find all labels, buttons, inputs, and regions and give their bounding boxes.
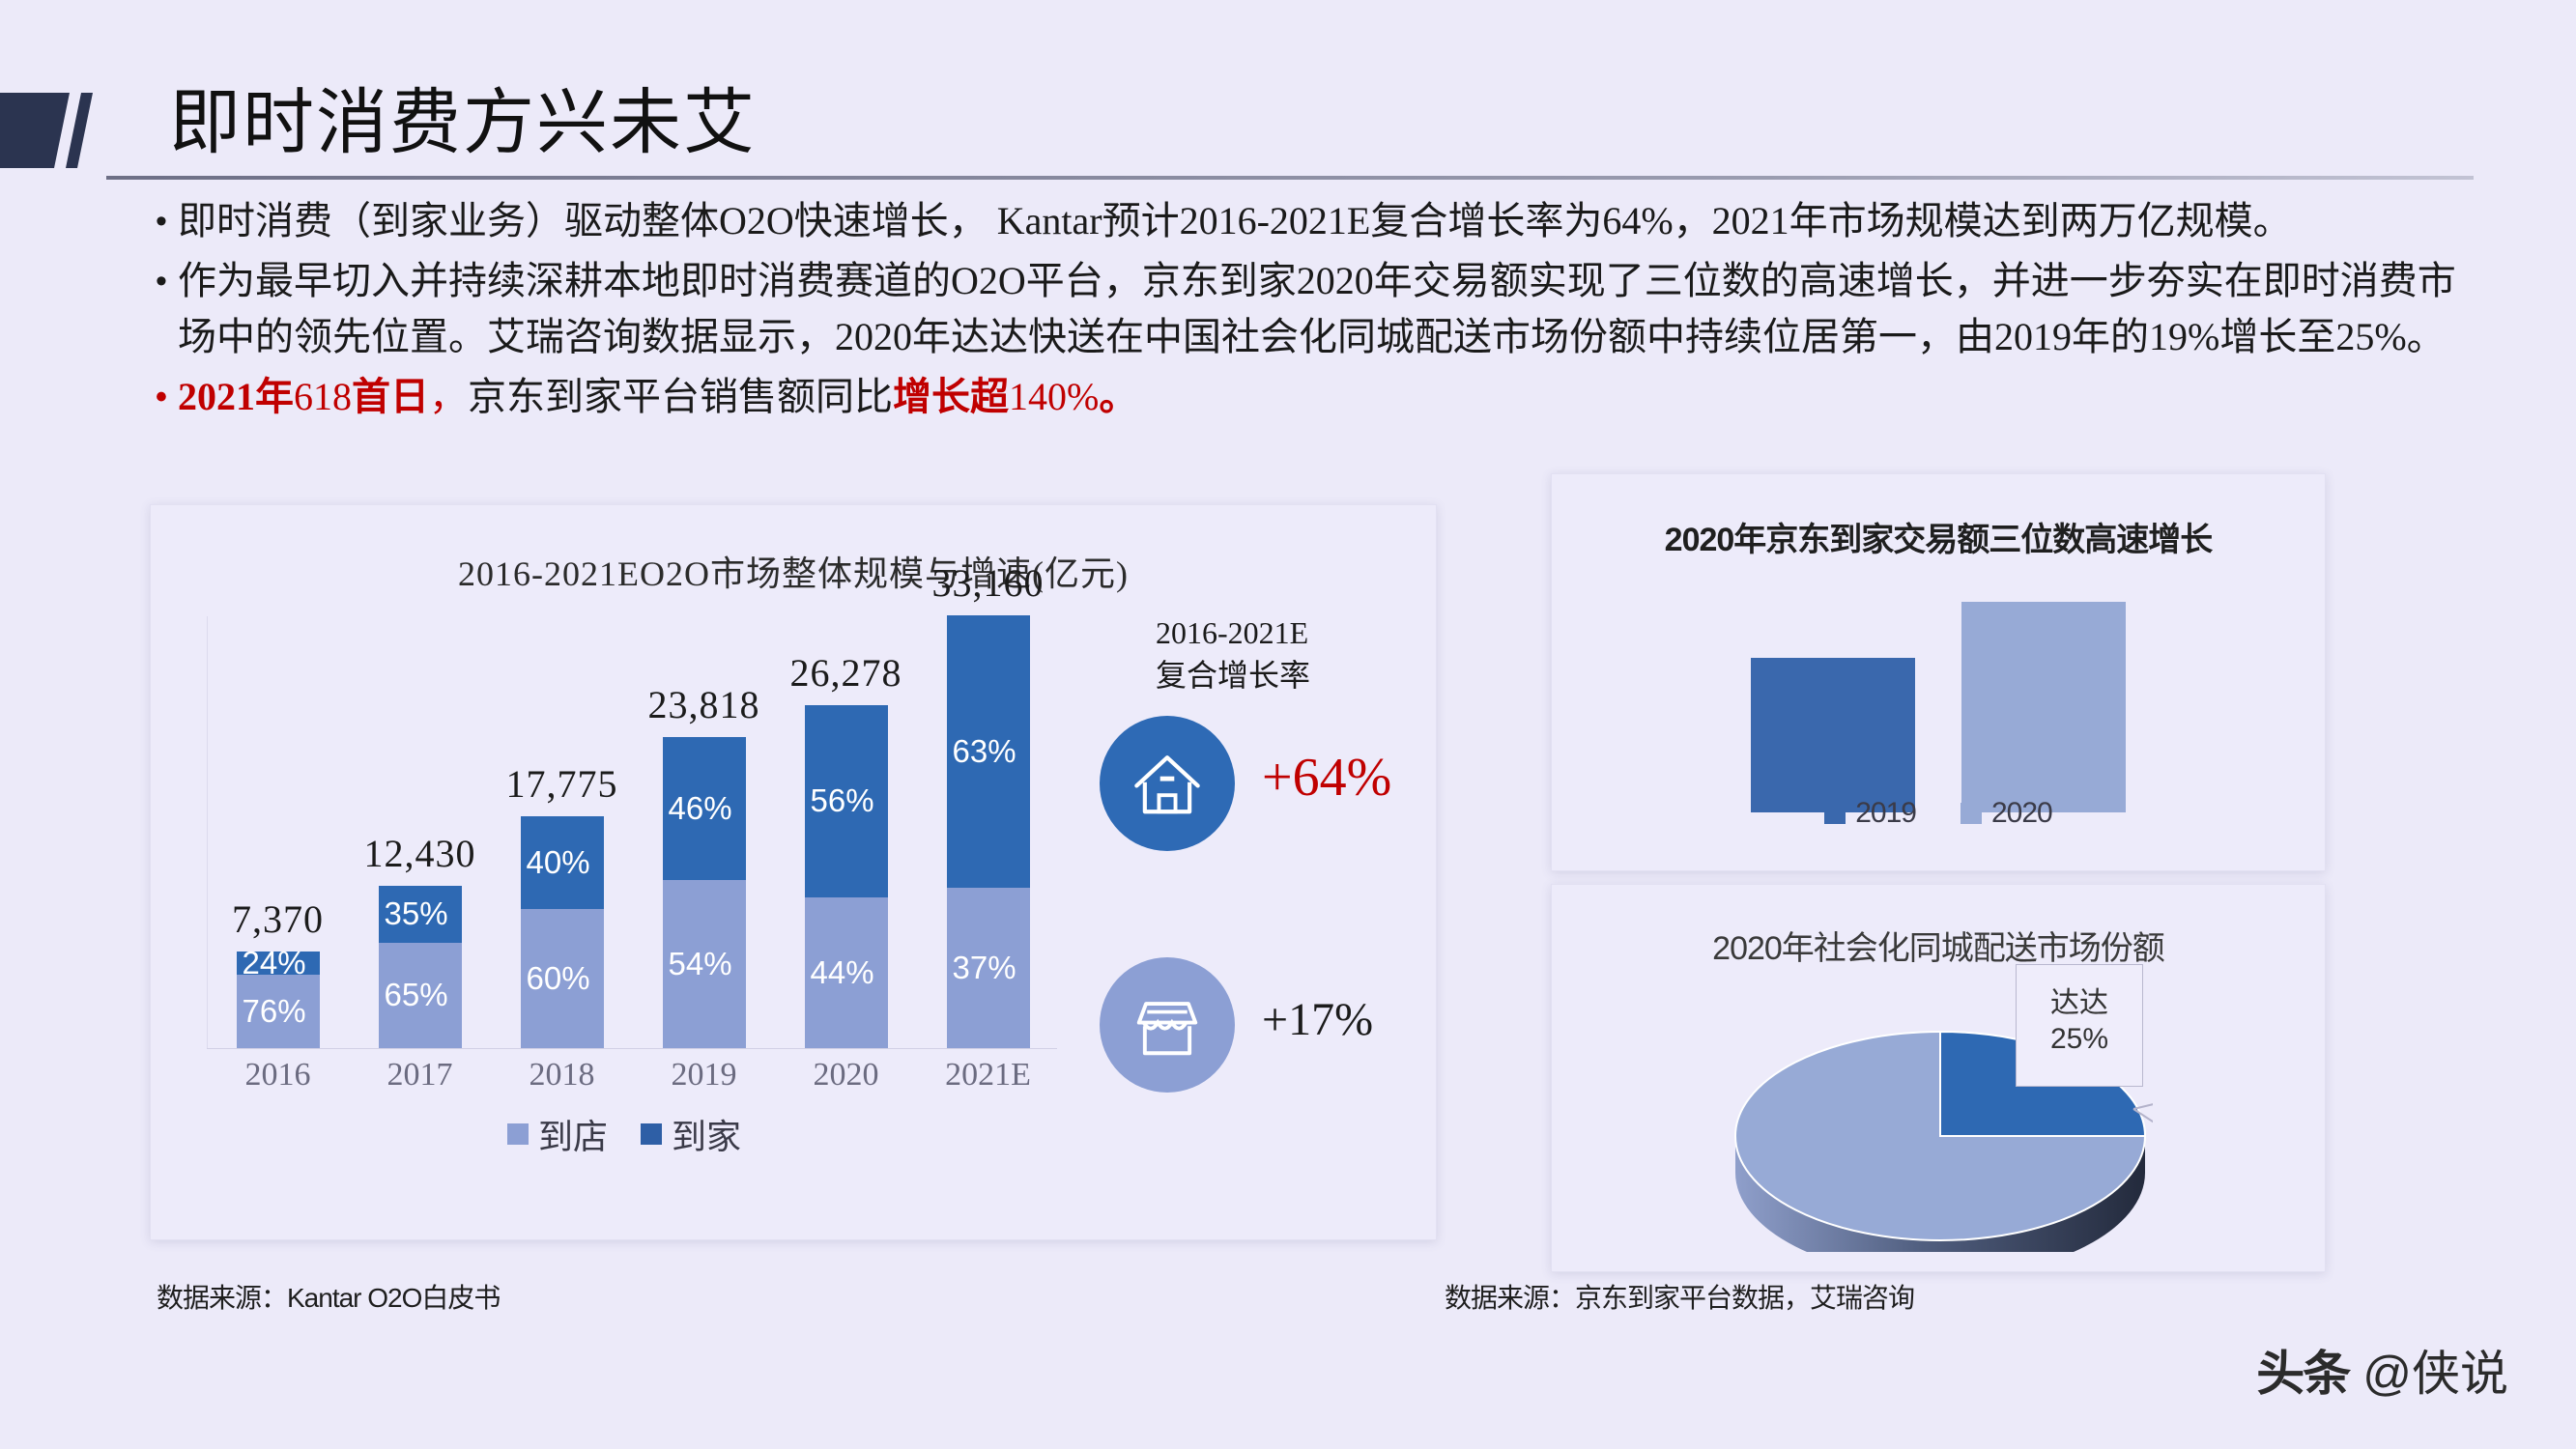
jd-gmv-card: 2020年京东到家交易额三位数高速增长 2019 2020 xyxy=(1551,473,2326,871)
main-chart-card: 2016-2021EO2O市场整体规模与增速(亿元) 7,370 24% 76%… xyxy=(150,504,1437,1240)
bar-total-label: 12,430 xyxy=(364,831,476,876)
bar-columns: 7,370 24% 76% 12,430 35% 65% 17,77 xyxy=(207,623,1059,1048)
bullet-text-3: 2021年618首日，京东到家平台销售额同比增长超140%。 xyxy=(178,369,2464,425)
legend-swatch-home-icon xyxy=(641,1123,662,1145)
home-icon-badge xyxy=(1100,716,1235,851)
x-tick-2017: 2017 xyxy=(349,1057,491,1101)
stacked-bar: 24% 76% xyxy=(237,952,320,1048)
store-icon-badge xyxy=(1100,957,1235,1093)
segment-store: 44% xyxy=(805,897,888,1048)
bullet-list: • 即时消费（到家业务）驱动整体O2O快速增长， Kantar预计2016-20… xyxy=(145,193,2464,429)
segment-home: 56% xyxy=(805,705,888,897)
cagr-home-value: +64% xyxy=(1262,747,1391,809)
house-icon xyxy=(1130,746,1205,821)
legend-label-store: 到店 xyxy=(538,1109,608,1159)
slide: 即时消费方兴未艾 • 即时消费（到家业务）驱动整体O2O快速增长， Kantar… xyxy=(0,0,2576,1449)
market-share-card: 2020年社会化同城配送市场份额 xyxy=(1551,884,2326,1272)
bar-column-2018[interactable]: 17,775 40% 60% xyxy=(491,761,633,1048)
segment-home: 24% xyxy=(237,952,320,975)
legend-item-2020[interactable]: 2020 xyxy=(1961,797,2052,830)
main-chart-legend: 到店 到家 xyxy=(189,1109,1059,1159)
bullet-text-2: 作为最早切入并持续深耕本地即时消费赛道的O2O平台，京东到家2020年交易额实现… xyxy=(178,253,2464,365)
bar-total-label: 26,278 xyxy=(790,650,902,696)
cagr-label: 复合增长率 xyxy=(1156,654,1407,696)
segment-home: 63% xyxy=(947,615,1030,888)
segment-store: 65% xyxy=(379,943,462,1048)
legend-swatch-2019-icon xyxy=(1824,803,1846,824)
pie-callout-value: 25% xyxy=(2017,1023,2142,1056)
bar-column-2020[interactable]: 26,278 56% 44% xyxy=(775,650,917,1048)
stacked-bar-chart: 7,370 24% 76% 12,430 35% 65% 17,77 xyxy=(189,616,1059,1119)
jd-gmv-title: 2020年京东到家交易额三位数高速增长 xyxy=(1552,513,2325,560)
jd-gmv-legend: 2019 2020 xyxy=(1552,797,2325,830)
legend-swatch-store-icon xyxy=(507,1123,529,1145)
watermark-logo: 头条 xyxy=(2256,1335,2349,1405)
stacked-bar: 56% 44% xyxy=(805,705,888,1048)
market-share-title: 2020年社会化同城配送市场份额 xyxy=(1552,922,2325,969)
segment-home: 46% xyxy=(663,737,746,880)
x-axis xyxy=(207,1048,1057,1049)
x-tick-2018: 2018 xyxy=(491,1057,633,1101)
bar-total-label: 17,775 xyxy=(506,761,618,807)
segment-store: 60% xyxy=(521,909,604,1048)
bullet-marker: • xyxy=(145,193,178,249)
source-note-left: 数据来源：Kantar O2O白皮书 xyxy=(157,1277,500,1316)
bullet-item-1: • 即时消费（到家业务）驱动整体O2O快速增长， Kantar预计2016-20… xyxy=(145,193,2464,249)
page-title: 即时消费方兴未艾 xyxy=(169,82,757,163)
slide-header: 即时消费方兴未艾 xyxy=(0,58,2576,164)
bar-column-2019[interactable]: 23,818 46% 54% xyxy=(633,682,775,1048)
corner-mark-decoration xyxy=(0,93,145,168)
x-tick-2020: 2020 xyxy=(775,1057,917,1101)
legend-item-2019[interactable]: 2019 xyxy=(1824,797,1916,830)
bar-2019[interactable] xyxy=(1751,658,1915,812)
stacked-bar: 63% 37% xyxy=(947,615,1030,1048)
legend-label-home: 到家 xyxy=(672,1109,741,1159)
legend-item-home[interactable]: 到家 xyxy=(641,1109,741,1159)
bar-column-2021E[interactable]: 33,160 63% 37% xyxy=(917,560,1059,1048)
segment-home: 35% xyxy=(379,886,462,943)
watermark: 头条 @侠说 xyxy=(2256,1335,2508,1405)
title-divider xyxy=(106,176,2474,180)
pie-callout: 达达 25% xyxy=(2016,964,2143,1087)
cagr-store-value: +17% xyxy=(1262,993,1373,1046)
segment-store: 54% xyxy=(663,880,746,1048)
legend-label-2019: 2019 xyxy=(1855,797,1916,830)
bullet-item-2: • 作为最早切入并持续深耕本地即时消费赛道的O2O平台，京东到家2020年交易额… xyxy=(145,253,2464,365)
cagr-period: 2016-2021E xyxy=(1156,611,1407,654)
legend-item-store[interactable]: 到店 xyxy=(507,1109,608,1159)
cagr-panel: 2016-2021E 复合增长率 +64% xyxy=(1078,611,1417,1152)
bullet-marker: • xyxy=(145,369,178,425)
legend-label-2020: 2020 xyxy=(1991,797,2052,830)
bar-total-label: 23,818 xyxy=(648,682,760,727)
x-axis-labels: 2016 2017 2018 2019 2020 2021E xyxy=(207,1057,1059,1101)
segment-home: 40% xyxy=(521,816,604,909)
segment-store: 76% xyxy=(237,975,320,1048)
segment-store: 37% xyxy=(947,888,1030,1048)
stacked-bar: 46% 54% xyxy=(663,737,746,1048)
stacked-bar: 35% 65% xyxy=(379,886,462,1048)
source-note-right: 数据来源：京东到家平台数据，艾瑞咨询 xyxy=(1445,1277,1914,1316)
stacked-bar: 40% 60% xyxy=(521,816,604,1048)
x-tick-2016: 2016 xyxy=(207,1057,349,1101)
storefront-icon xyxy=(1130,987,1205,1063)
pie-callout-label: 达达 xyxy=(2017,979,2142,1021)
jd-gmv-bars xyxy=(1552,600,2325,812)
cagr-heading: 2016-2021E 复合增长率 xyxy=(1156,611,1407,696)
bar-column-2016[interactable]: 7,370 24% 76% xyxy=(207,896,349,1048)
bar-2020[interactable] xyxy=(1961,602,2126,812)
bullet-text-1: 即时消费（到家业务）驱动整体O2O快速增长， Kantar预计2016-2021… xyxy=(178,193,2464,249)
x-tick-2019: 2019 xyxy=(633,1057,775,1101)
bar-total-label: 7,370 xyxy=(232,896,324,942)
legend-swatch-2020-icon xyxy=(1961,803,1982,824)
x-tick-2021E: 2021E xyxy=(917,1057,1059,1101)
bullet-item-3: • 2021年618首日，京东到家平台销售额同比增长超140%。 xyxy=(145,369,2464,425)
bar-column-2017[interactable]: 12,430 35% 65% xyxy=(349,831,491,1048)
bullet-marker: • xyxy=(145,253,178,309)
main-chart-title: 2016-2021EO2O市场整体规模与增速(亿元) xyxy=(151,546,1436,596)
bar-total-label: 33,160 xyxy=(932,560,1045,606)
watermark-text: @侠说 xyxy=(2362,1335,2508,1405)
jd-gmv-chart xyxy=(1552,600,2325,812)
